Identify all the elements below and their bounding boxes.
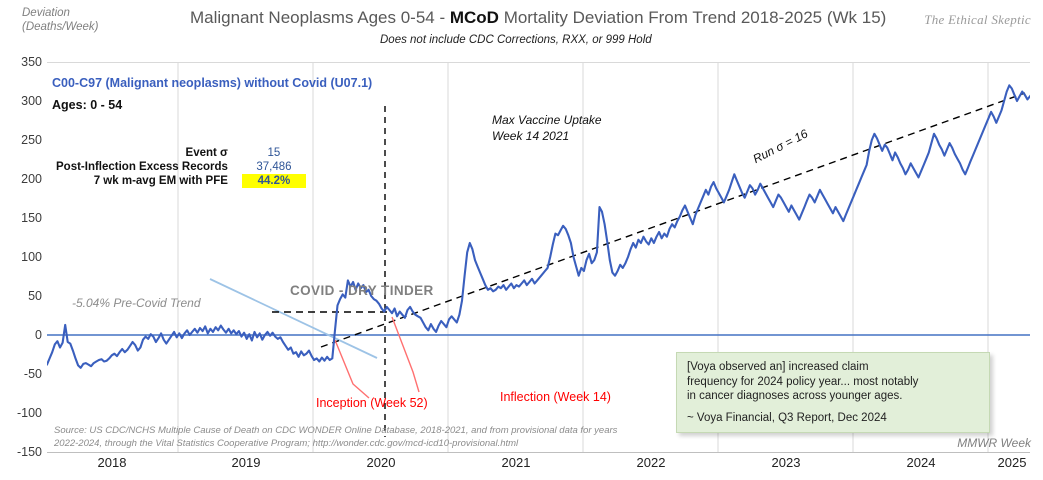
stats-label: 7 wk m-avg EM with PFE: [56, 174, 242, 188]
title-post: Mortality Deviation From Trend 2018-2025…: [499, 8, 886, 27]
x-tick-2023: 2023: [772, 455, 801, 470]
y-tick: 350: [21, 55, 42, 69]
y-tick: 50: [28, 289, 42, 303]
x-tick-2021: 2021: [502, 455, 531, 470]
inception-leader: [335, 340, 369, 398]
x-axis-label: MMWR Week: [957, 436, 1031, 450]
brand-watermark: The Ethical Skeptic: [924, 12, 1031, 28]
stats-row: Post-Inflection Excess Records 37,486: [56, 160, 306, 174]
y-tick: 200: [21, 172, 42, 186]
y-tick: 0: [35, 328, 42, 342]
source-line2: 2022-2024, through the Vital Statistics …: [54, 437, 654, 450]
chart-canvas: Deviation (Deaths/Week) Malignant Neopla…: [0, 0, 1043, 480]
stats-label: Post-Inflection Excess Records: [56, 160, 242, 174]
x-tick-2020: 2020: [367, 455, 396, 470]
stats-value: 37,486: [242, 160, 306, 174]
stats-value: 15: [242, 146, 306, 160]
x-tick-2019: 2019: [232, 455, 261, 470]
title-pre: Malignant Neoplasms Ages 0-54 -: [190, 8, 450, 27]
run-trend-line: [321, 93, 1025, 347]
stats-label: Event σ: [56, 146, 242, 160]
y-tick: 300: [21, 94, 42, 108]
x-tick-2025: 2025: [998, 455, 1027, 470]
stats-table: Event σ 15 Post-Inflection Excess Record…: [56, 146, 306, 188]
quote-line1: [Voya observed an] increased claim: [687, 360, 979, 375]
quote-callout: [Voya observed an] increased claim frequ…: [676, 352, 990, 433]
source-note: Source: US CDC/NCHS Multiple Cause of De…: [54, 424, 654, 450]
pre-covid-trend-label: -5.04% Pre-Covid Trend: [72, 296, 201, 310]
stats-value-highlighted: 44.2%: [242, 174, 306, 188]
y-tick: -150: [17, 445, 42, 459]
y-tick: 250: [21, 133, 42, 147]
y-axis-caption: Deviation (Deaths/Week): [22, 6, 98, 34]
title-bold: MCoD: [450, 8, 499, 27]
y-tick: -100: [17, 406, 42, 420]
stats-row: Event σ 15: [56, 146, 306, 160]
inception-label: Inception (Week 52): [316, 396, 428, 410]
inflection-leader: [392, 317, 419, 392]
x-tick-2024: 2024: [907, 455, 936, 470]
max-vaccine-uptake-label: Max Vaccine Uptake Week 14 2021: [492, 112, 602, 144]
chart-subtitle: Does not include CDC Corrections, RXX, o…: [380, 34, 652, 46]
y-tick: 150: [21, 211, 42, 225]
max-vaccine-uptake-line1: Max Vaccine Uptake: [492, 112, 602, 128]
quote-line2: frequency for 2024 policy year... most n…: [687, 375, 979, 390]
y-axis-ticks: 350 300 250 200 150 100 50 0 -50 -100 -1…: [0, 62, 42, 452]
quote-line3: in cancer diagnoses across younger ages.: [687, 389, 979, 404]
x-tick-2022: 2022: [637, 455, 666, 470]
inflection-label: Inflection (Week 14): [500, 390, 611, 404]
y-axis-caption-line1: Deviation: [22, 6, 98, 20]
y-axis-caption-line2: (Deaths/Week): [22, 20, 98, 34]
source-line1: Source: US CDC/NCHS Multiple Cause of De…: [54, 424, 654, 437]
stats-row: 7 wk m-avg EM with PFE 44.2%: [56, 174, 306, 188]
legend-ages-label: Ages: 0 - 54: [52, 98, 122, 112]
quote-attribution: ~ Voya Financial, Q3 Report, Dec 2024: [687, 412, 979, 424]
max-vaccine-uptake-line2: Week 14 2021: [492, 128, 602, 144]
x-tick-2018: 2018: [98, 455, 127, 470]
x-axis-ticks: 2018 2019 2020 2021 2022 2023 2024 2025: [47, 453, 1030, 478]
y-tick: 100: [21, 250, 42, 264]
covid-dry-tinder-label: COVID - DRY TINDER: [290, 283, 434, 298]
y-tick: -50: [24, 367, 42, 381]
legend-series-label: C00-C97 (Malignant neoplasms) without Co…: [52, 76, 372, 90]
page-title: Malignant Neoplasms Ages 0-54 - MCoD Mor…: [190, 8, 886, 28]
